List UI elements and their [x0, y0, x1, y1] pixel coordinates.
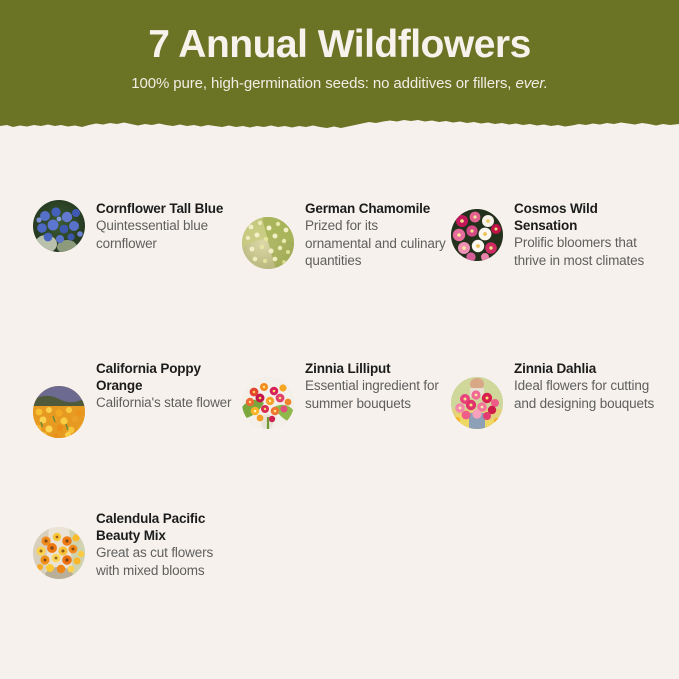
item-name: Zinnia Lilliput: [305, 360, 447, 377]
zinnia-dahlia-thumbnail-icon: [451, 377, 503, 429]
item-description: California's state flower: [96, 394, 238, 412]
list-item-calendula-pacific-beauty-mix[interactable]: Calendula Pacific Beauty Mix Great as cu…: [33, 510, 238, 579]
item-info: California Poppy Orange California's sta…: [96, 360, 238, 412]
item-row: California Poppy Orange California's sta…: [0, 360, 679, 438]
wildflower-list: Cornflower Tall Blue Quintessential blue…: [0, 142, 679, 679]
page-title: 7 Annual Wildflowers: [148, 22, 531, 68]
list-item-zinnia-lilliput[interactable]: Zinnia Lilliput Essential ingredient for…: [242, 360, 447, 438]
item-description: Prized for its ornamental and culinary q…: [305, 217, 447, 270]
item-description: Essential ingredient for summer bouquets: [305, 377, 447, 412]
calendula-pacific-beauty-mix-thumbnail-icon: [33, 527, 85, 579]
item-description: Great as cut flowers with mixed blooms: [96, 544, 238, 579]
item-description: Ideal flowers for cutting and designing …: [514, 377, 656, 412]
item-info: Cosmos Wild Sensation Prolific bloomers …: [514, 200, 656, 269]
torn-paper-edge-icon: [0, 116, 679, 142]
item-name: Calendula Pacific Beauty Mix: [96, 510, 238, 544]
item-info: Zinnia Lilliput Essential ingredient for…: [305, 360, 447, 412]
subtitle-emphasis-text: ever.: [515, 75, 547, 92]
item-name: Zinnia Dahlia: [514, 360, 656, 377]
item-name: California Poppy Orange: [96, 360, 238, 394]
item-name: Cosmos Wild Sensation: [514, 200, 656, 234]
item-description: Quintessential blue cornflower: [96, 217, 238, 252]
list-item-cosmos-wild-sensation[interactable]: Cosmos Wild Sensation Prolific bloomers …: [451, 200, 656, 270]
cornflower-tall-blue-thumbnail-icon: [33, 200, 85, 252]
list-item-cornflower-tall-blue[interactable]: Cornflower Tall Blue Quintessential blue…: [33, 200, 238, 270]
item-info: Cornflower Tall Blue Quintessential blue…: [96, 200, 238, 252]
item-row: Calendula Pacific Beauty Mix Great as cu…: [0, 510, 679, 579]
item-name: Cornflower Tall Blue: [96, 200, 238, 217]
item-info: Calendula Pacific Beauty Mix Great as cu…: [96, 510, 238, 579]
list-item-california-poppy-orange[interactable]: California Poppy Orange California's sta…: [33, 360, 238, 438]
subtitle-main-text: 100% pure, high-germination seeds: no ad…: [131, 75, 511, 92]
list-item-german-chamomile[interactable]: German Chamomile Prized for its ornament…: [242, 200, 447, 270]
item-name: German Chamomile: [305, 200, 447, 217]
item-info: Zinnia Dahlia Ideal flowers for cutting …: [514, 360, 656, 412]
zinnia-lilliput-thumbnail-icon: [242, 377, 294, 429]
header-text-block: 7 Annual Wildflowers 100% pure, high-ger…: [0, 0, 679, 128]
item-description: Prolific bloomers that thrive in most cl…: [514, 234, 656, 269]
california-poppy-orange-thumbnail-icon: [33, 386, 85, 438]
list-item-zinnia-dahlia[interactable]: Zinnia Dahlia Ideal flowers for cutting …: [451, 360, 656, 438]
item-info: German Chamomile Prized for its ornament…: [305, 200, 447, 270]
german-chamomile-thumbnail-icon: [242, 217, 294, 269]
cosmos-wild-sensation-thumbnail-icon: [451, 209, 503, 261]
item-row: Cornflower Tall Blue Quintessential blue…: [0, 200, 679, 270]
infographic-page: 7 Annual Wildflowers 100% pure, high-ger…: [0, 0, 679, 679]
header-banner: 7 Annual Wildflowers 100% pure, high-ger…: [0, 0, 679, 142]
page-subtitle: 100% pure, high-germination seeds: no ad…: [131, 74, 548, 94]
